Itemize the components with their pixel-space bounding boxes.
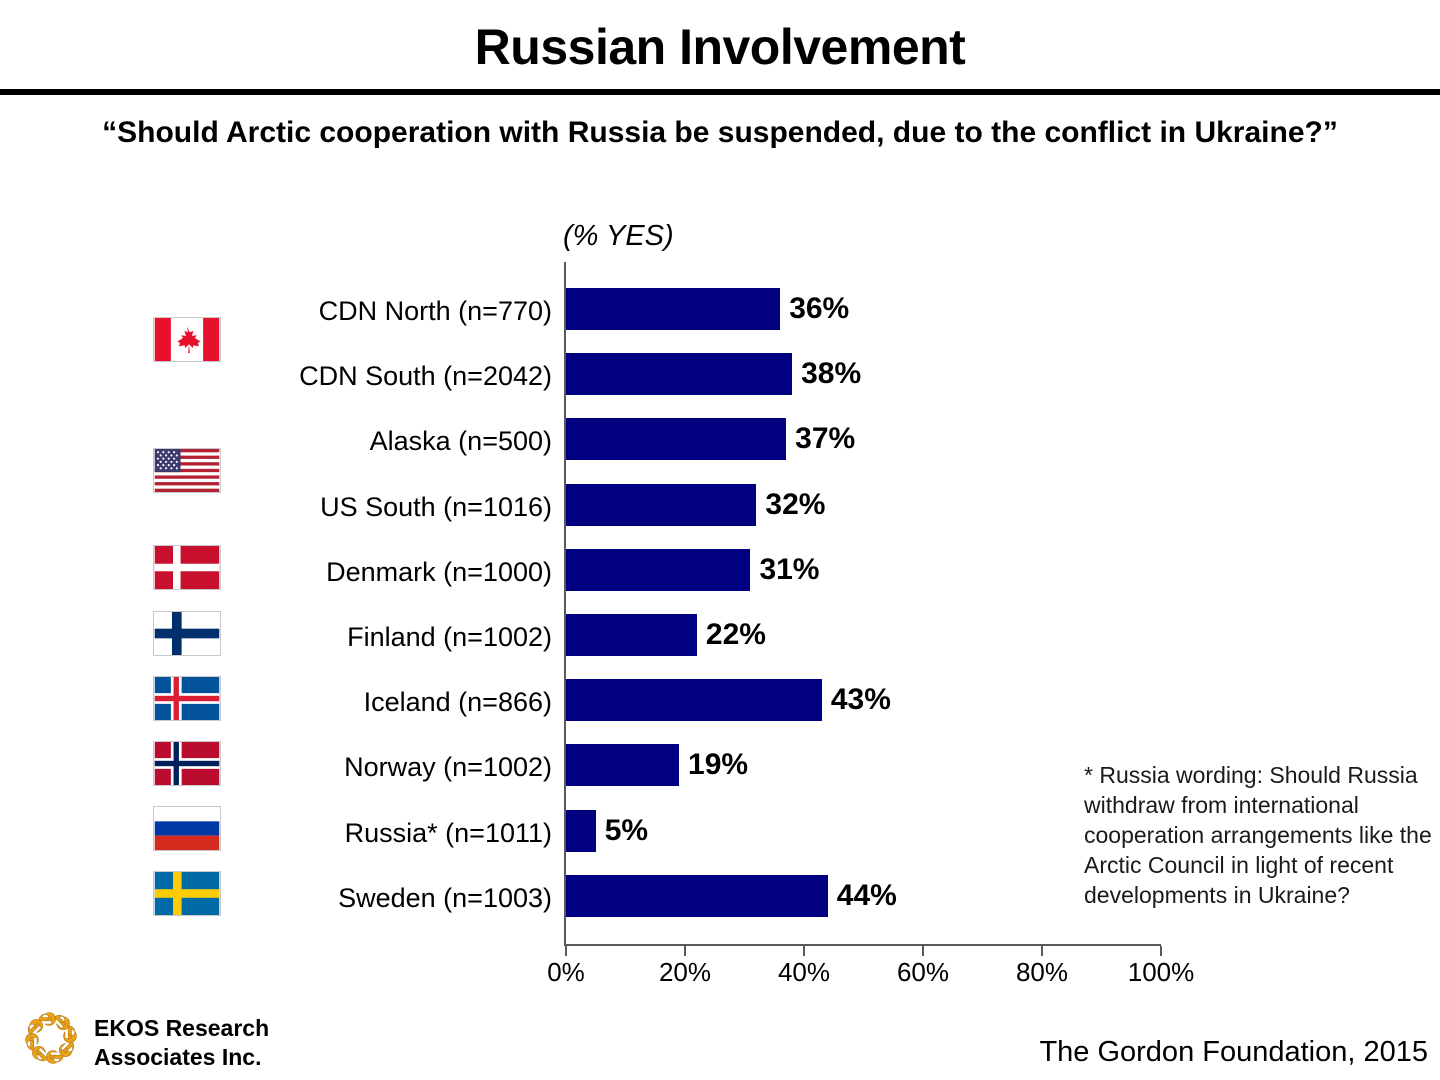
bar — [566, 484, 756, 526]
x-axis-tick — [1160, 946, 1162, 956]
bar-value-label: 36% — [789, 289, 849, 329]
bar-value-label: 22% — [706, 615, 766, 655]
russia-wording-footnote: * Russia wording: Should Russia withdraw… — [1084, 760, 1434, 910]
x-axis-tick — [684, 946, 686, 956]
bar-value-label: 43% — [831, 680, 891, 720]
ekos-org-name: EKOS Research Associates Inc. — [94, 1014, 269, 1072]
russia-flag — [153, 806, 221, 851]
bar-value-label: 31% — [759, 550, 819, 590]
bar — [566, 744, 679, 786]
bar-value-label: 37% — [795, 419, 855, 459]
bar-category-label: Finland (n=1002) — [347, 620, 552, 654]
canada-flag — [153, 317, 221, 362]
bar-category-label: Denmark (n=1000) — [326, 555, 552, 589]
bar-category-label: Russia* (n=1011) — [345, 816, 552, 850]
bar — [566, 679, 822, 721]
bar-value-label: 38% — [801, 354, 861, 394]
bar — [566, 875, 828, 917]
source-credit: The Gordon Foundation, 2015 — [1039, 1036, 1428, 1069]
x-axis-tick — [565, 946, 567, 956]
sweden-flag — [153, 871, 221, 916]
bar-value-label: 19% — [688, 745, 748, 785]
bar-category-label: CDN North (n=770) — [319, 294, 552, 328]
x-axis-tick — [922, 946, 924, 956]
x-axis-tick-label: 0% — [547, 957, 585, 988]
bar-chart: 0%20%40%60%80%100% CDN North (n=770)36%C… — [0, 0, 1440, 1080]
bar — [566, 614, 697, 656]
x-axis-tick-label: 60% — [897, 957, 949, 988]
bar-category-label: Iceland (n=866) — [364, 685, 552, 719]
x-axis-tick-label: 80% — [1016, 957, 1068, 988]
bar-category-label: Alaska (n=500) — [370, 424, 552, 458]
bar-category-label: US South (n=1016) — [320, 490, 552, 524]
iceland-flag — [153, 676, 221, 721]
finland-flag — [153, 611, 221, 656]
denmark-flag — [153, 545, 221, 590]
bar-value-label: 5% — [605, 811, 648, 851]
bar-value-label: 44% — [837, 876, 897, 916]
bar — [566, 288, 780, 330]
x-axis-tick-label: 40% — [778, 957, 830, 988]
x-axis-tick — [803, 946, 805, 956]
x-axis-tick — [1041, 946, 1043, 956]
bar-category-label: Norway (n=1002) — [344, 750, 552, 784]
united-states-flag — [153, 448, 221, 493]
x-axis-tick-label: 20% — [659, 957, 711, 988]
x-axis-line — [564, 944, 1161, 946]
bar — [566, 418, 786, 460]
bar — [566, 549, 750, 591]
bar-category-label: Sweden (n=1003) — [338, 881, 552, 915]
bar — [566, 810, 596, 852]
x-axis-tick-label: 100% — [1128, 957, 1195, 988]
bar-value-label: 32% — [765, 485, 825, 525]
ekos-logo-icon — [18, 1005, 84, 1071]
bar-category-label: CDN South (n=2042) — [299, 359, 552, 393]
norway-flag — [153, 741, 221, 786]
bar — [566, 353, 792, 395]
